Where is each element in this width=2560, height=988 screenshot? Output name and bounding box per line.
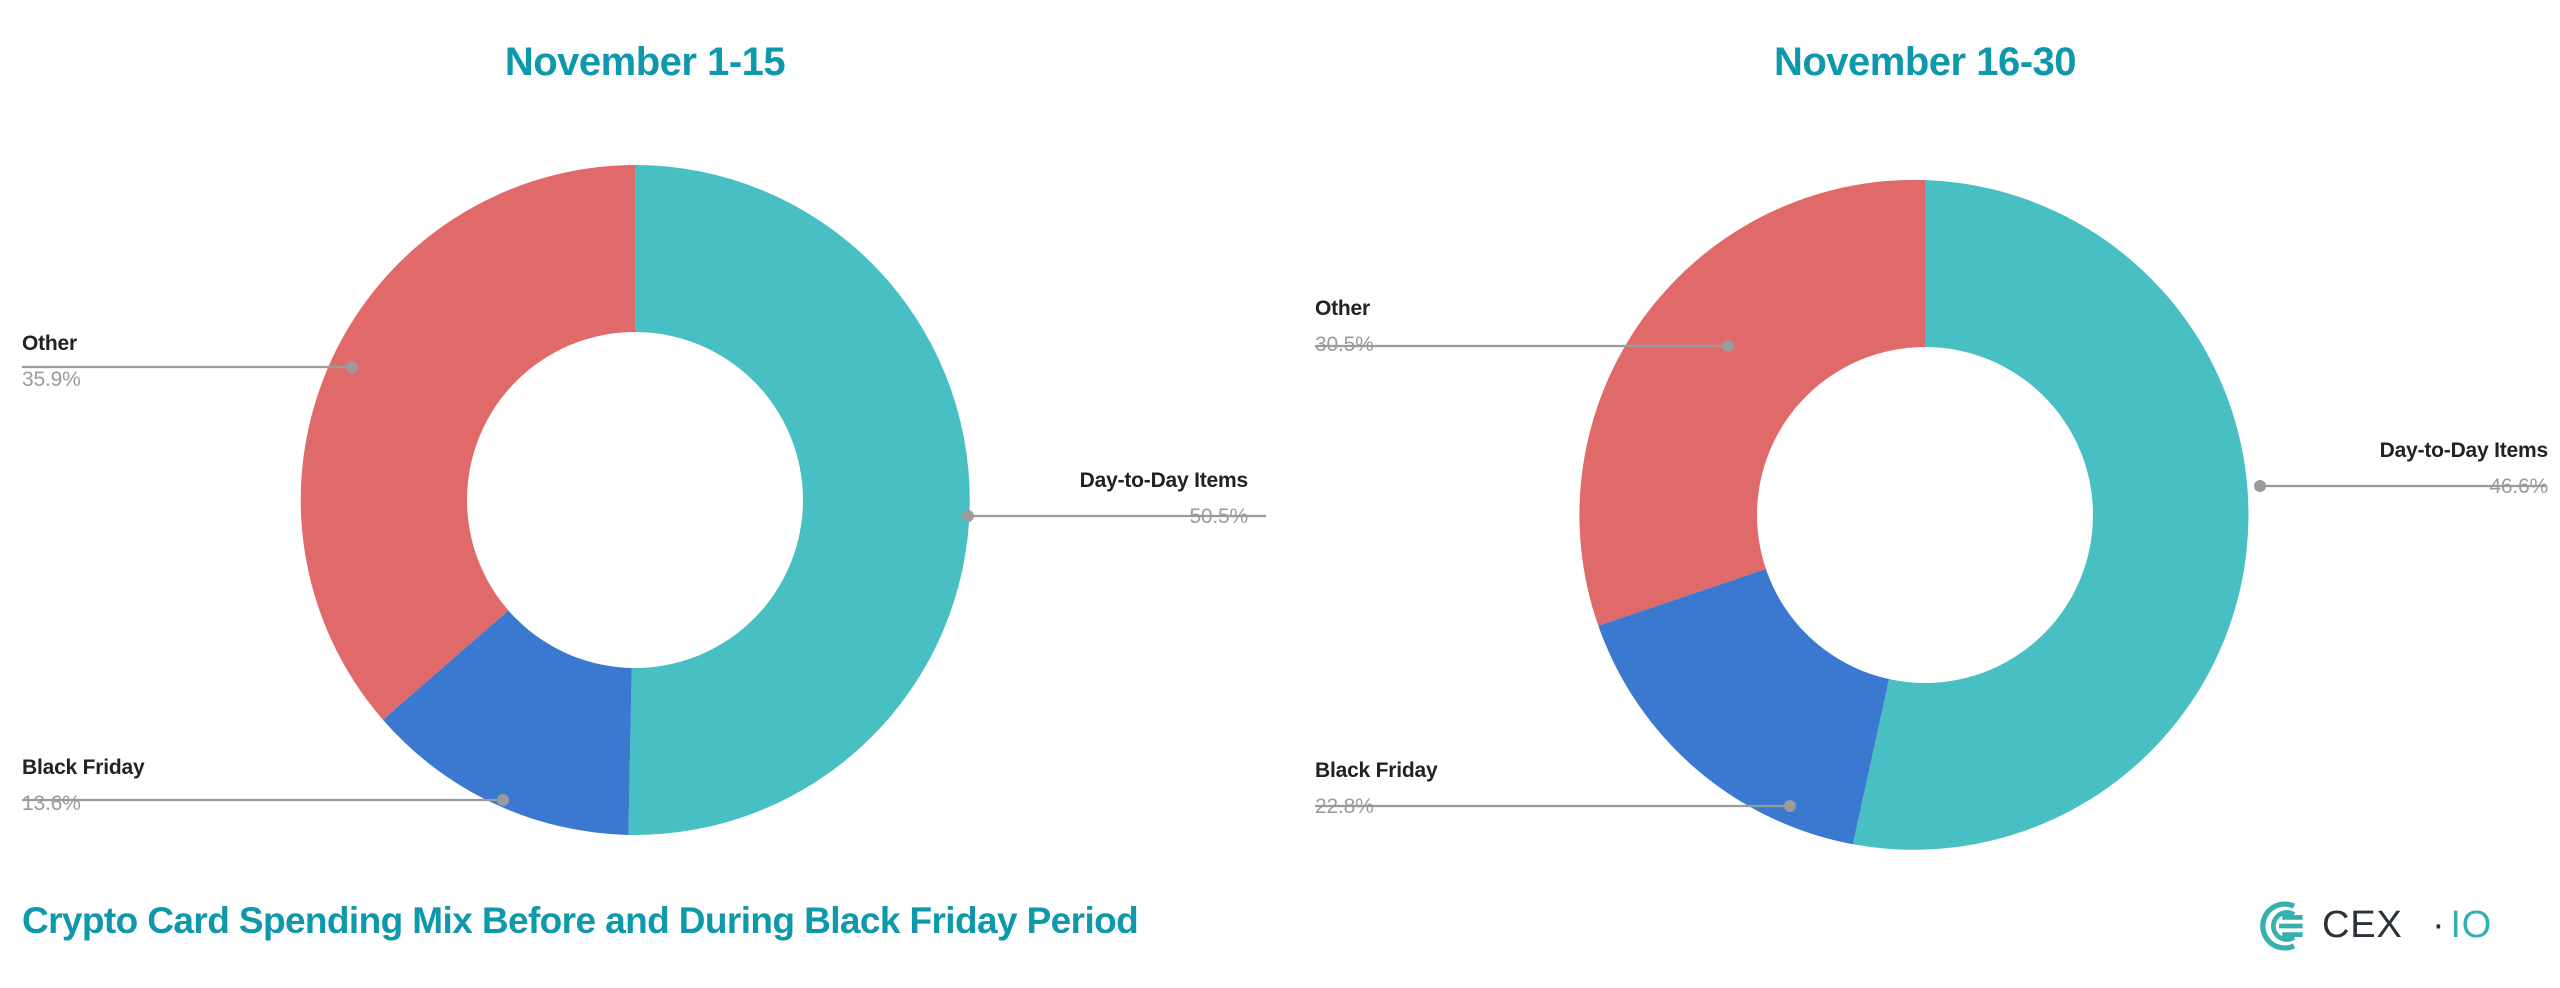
callout-right-day-to-day-label: Day-to-Day Items <box>2040 440 2548 468</box>
callout-right-day-to-day-value: 46.6% <box>2040 468 2548 497</box>
callout-left-other[interactable]: Other 35.9% <box>22 333 81 390</box>
leader-dot-other <box>346 361 358 373</box>
callout-left-black-friday-label: Black Friday <box>22 757 145 785</box>
donut-right-hole <box>1757 347 2093 683</box>
callout-left-day-to-day-value: 50.5% <box>760 498 1248 527</box>
callout-right-black-friday-label: Black Friday <box>1315 760 1438 788</box>
donut-left-svg <box>0 0 1290 900</box>
cexio-circle-logo-icon <box>2257 899 2311 953</box>
callout-left-black-friday[interactable]: Black Friday 13.6% <box>22 757 145 814</box>
callout-right-black-friday[interactable]: Black Friday 22.8% <box>1315 760 1438 817</box>
figure-caption: Crypto Card Spending Mix Before and Duri… <box>22 900 1138 942</box>
leader-dot-black-friday <box>497 794 509 806</box>
leader-dot-black-friday <box>1784 800 1796 812</box>
callout-right-other[interactable]: Other 30.5% <box>1315 298 1374 355</box>
callout-left-other-label: Other <box>22 333 81 361</box>
svg-text:·: · <box>2432 904 2445 946</box>
donut-left-hole <box>467 332 803 668</box>
callout-right-other-value: 30.5% <box>1315 326 1374 355</box>
callout-left-other-value: 35.9% <box>22 361 81 390</box>
svg-text:CEX: CEX <box>2322 904 2403 946</box>
cexio-logo: CEX · IO <box>2257 895 2542 957</box>
callout-left-black-friday-value: 13.6% <box>22 785 145 814</box>
callout-left-day-to-day-label: Day-to-Day Items <box>760 470 1248 498</box>
svg-text:IO: IO <box>2450 904 2492 946</box>
callout-right-other-label: Other <box>1315 298 1374 326</box>
leader-dot-other <box>1722 340 1734 352</box>
callout-right-day-to-day[interactable]: Day-to-Day Items 46.6% <box>2040 440 2548 497</box>
callout-left-day-to-day[interactable]: Day-to-Day Items 50.5% <box>760 470 1248 527</box>
cexio-wordmark: CEX · IO <box>2322 904 2542 948</box>
chart-canvas: November 1-15 November 16-30 <box>0 0 2560 988</box>
donut-chart-left <box>0 0 1290 900</box>
callout-right-black-friday-value: 22.8% <box>1315 788 1438 817</box>
